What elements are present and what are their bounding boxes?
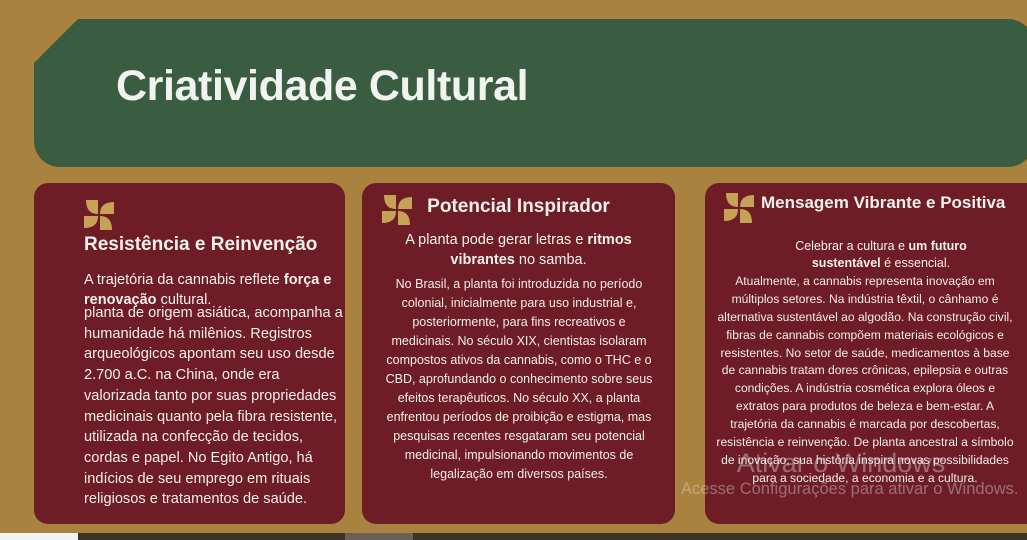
lead-prefix: A trajetória da cannabis reflete [84,272,284,288]
card-lead: A planta pode gerar letras e ritmos vibr… [386,231,651,270]
card-body: planta de origem asiática, acompanha a h… [84,303,345,510]
lead-suffix: é essencial. [881,256,950,270]
four-petal-flower-icon [724,193,754,223]
card-heading: Mensagem Vibrante e Positiva [761,193,1011,213]
card-lead: Celebrar a cultura e um futuro sustentáv… [761,238,1001,272]
card-heading: Potencial Inspirador [362,196,675,218]
lead-prefix: A planta pode gerar letras e [405,232,587,248]
card-body: No Brasil, a planta foi introduzida no p… [384,275,654,484]
chrome-strip-left [0,533,78,540]
card-mensagem-vibrante-e-positiva[interactable]: Mensagem Vibrante e Positiva Celebrar a … [705,183,1027,524]
card-row: Resistência e Reinvenção A trajetória da… [0,183,1027,528]
card-potencial-inspirador[interactable]: Potencial Inspirador A planta pode gerar… [362,183,675,524]
lead-prefix: Celebrar a cultura e [795,239,908,253]
page-title: Criatividade Cultural [116,62,528,111]
bottom-chrome-strip [0,533,1027,540]
four-petal-flower-icon [84,200,114,230]
card-resistencia-e-reinvencao[interactable]: Resistência e Reinvenção A trajetória da… [34,183,345,524]
slide-canvas: Criatividade Cultural Resistência e Rein… [0,0,1027,533]
card-body: Atualmente, a cannabis representa inovaç… [715,273,1015,488]
chrome-strip-tab [345,533,413,540]
card-heading: Resistência e Reinvenção [84,234,334,256]
lead-suffix: no samba. [515,252,587,268]
